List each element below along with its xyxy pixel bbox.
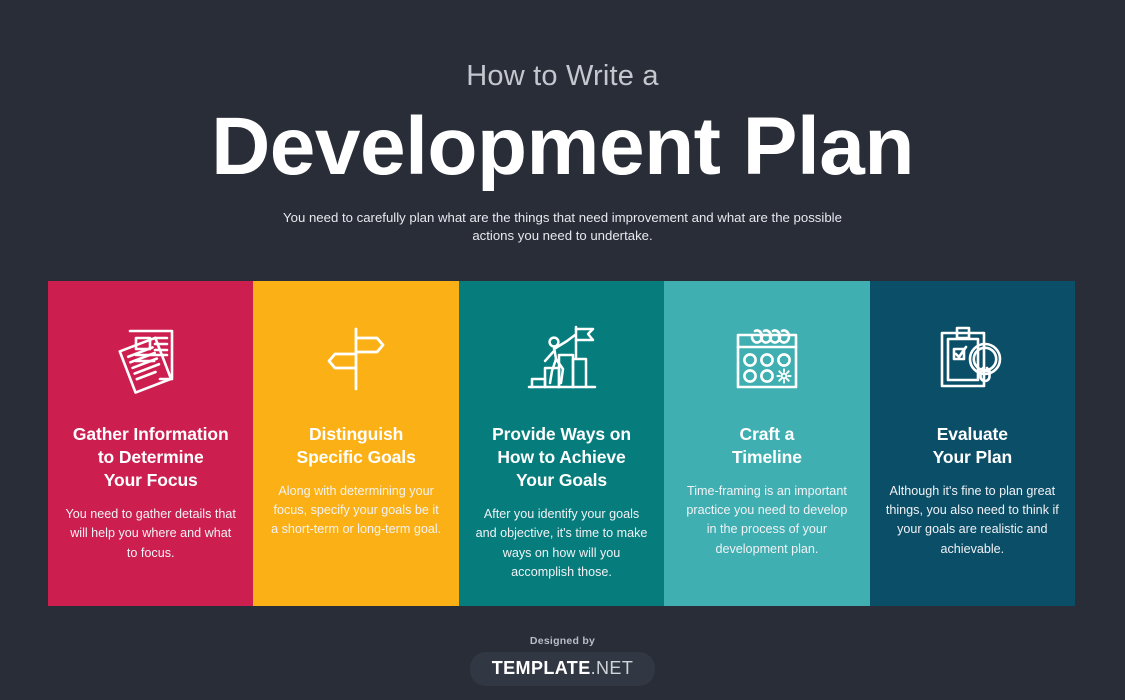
climber-flag-icon [475,315,648,401]
steps-panel: Gather Informationto DetermineYour Focus… [48,281,1075,606]
step-column-distinguish-goals: DistinguishSpecific Goals Along with det… [253,281,458,606]
brand-tld: .NET [591,658,634,679]
step-column-craft-timeline: Craft aTimeline Time-framing is an impor… [664,281,869,606]
kicker-text: How to Write a [0,62,1125,91]
brand-name: TEMPLATE [492,658,591,679]
signpost-icon [269,315,442,401]
infographic-poster: How to Write a Development Plan You need… [0,0,1125,700]
step-body: Along with determining your focus, speci… [269,482,442,539]
subtitle-text: You need to carefully plan what are the … [283,209,843,246]
footer: Designed by TEMPLATE .NET [0,635,1125,686]
calendar-icon [680,315,853,401]
page-title: Development Plan [0,105,1125,189]
step-title: DistinguishSpecific Goals [297,423,416,469]
step-title: Provide Ways onHow to AchieveYour Goals [492,423,631,492]
step-body: Although it's fine to plan great things,… [886,482,1059,559]
step-title: EvaluateYour Plan [933,423,1012,469]
step-title: Gather Informationto DetermineYour Focus [73,423,229,492]
header: How to Write a Development Plan You need… [0,0,1125,246]
step-body: You need to gather details that will hel… [64,505,237,562]
step-body: After you identify your goals and object… [475,505,648,582]
step-column-gather-information: Gather Informationto DetermineYour Focus… [48,281,253,606]
clipboard-magnifier-icon [886,315,1059,401]
step-title: Craft aTimeline [732,423,802,469]
step-body: Time-framing is an important practice yo… [680,482,853,559]
designed-by-label: Designed by [530,635,595,647]
step-column-provide-ways: Provide Ways onHow to AchieveYour Goals … [459,281,664,606]
brand-badge[interactable]: TEMPLATE .NET [470,652,655,686]
documents-icon [64,315,237,401]
step-column-evaluate-plan: EvaluateYour Plan Although it's fine to … [870,281,1075,606]
